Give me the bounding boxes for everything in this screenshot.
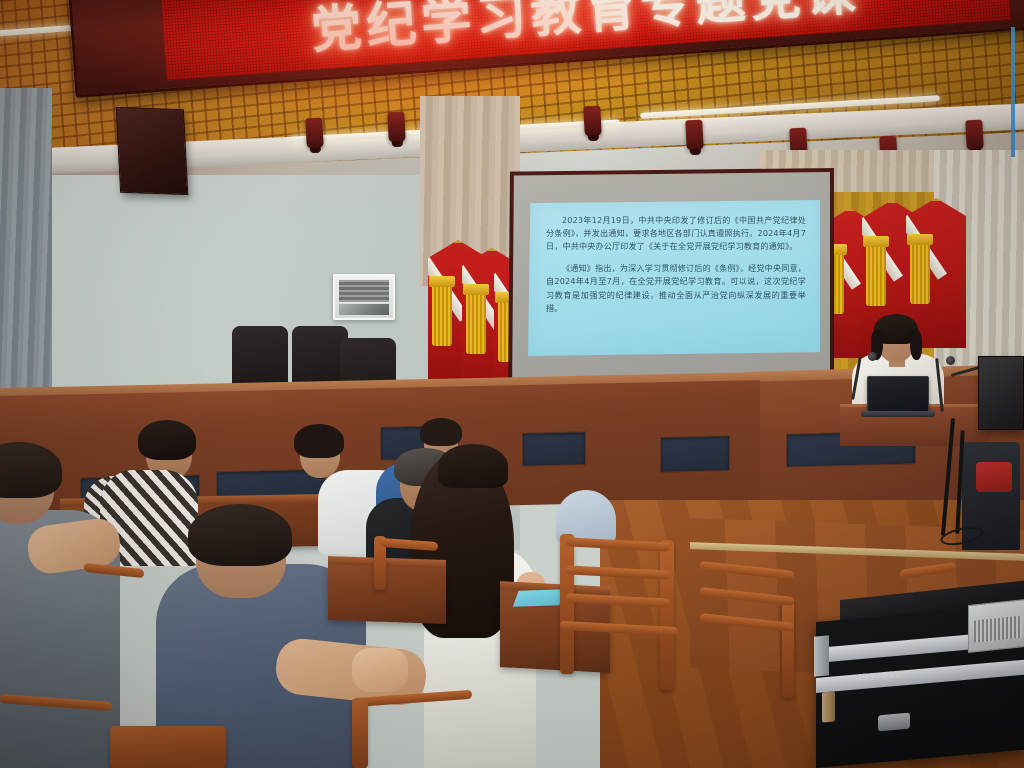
flag-tassel xyxy=(866,244,886,306)
spotlight-icon xyxy=(965,120,984,151)
audience-person-foreground-hair xyxy=(188,504,292,566)
wooden-chair-post[interactable] xyxy=(560,534,574,674)
audience-woman-hair-top xyxy=(438,444,508,488)
projection-screen-surface: 2023年12月19日，中共中央印发了修订后的《中国共产党纪律处分条例》，并发出… xyxy=(512,172,830,394)
audience-person-hand xyxy=(352,648,408,692)
spotlight-icon xyxy=(583,106,602,137)
spotlight-icon xyxy=(305,118,324,149)
slide-paragraph-1: 2023年12月19日，中共中央印发了修订后的《中国共产党纪律处分条例》，并发出… xyxy=(546,214,806,253)
conference-hall-scene: 党纪学习教育专题党课 xyxy=(0,0,1024,768)
presenter-hair-side xyxy=(910,330,922,360)
flag-tassel xyxy=(432,284,452,346)
wooden-chair-back[interactable] xyxy=(110,726,226,768)
microphone-icon[interactable] xyxy=(868,352,877,361)
flight-case-corner xyxy=(814,635,829,676)
projected-slide: 2023年12月19日，中共中央印发了修订后的《中国共产党纪律处分条例》，并发出… xyxy=(528,200,820,356)
laptop-screen[interactable] xyxy=(867,376,929,412)
audience-person-hair xyxy=(138,420,196,460)
audience-person-hair xyxy=(294,424,344,458)
audience-desk xyxy=(328,564,446,624)
wooden-chair-post[interactable] xyxy=(660,540,674,690)
flight-case-latch[interactable] xyxy=(822,691,835,722)
slide-accent-bar xyxy=(1011,27,1015,157)
wall-speaker-left xyxy=(116,107,189,195)
flag-tassel xyxy=(466,292,486,354)
spotlight-icon xyxy=(387,112,406,143)
stage-inset-panel xyxy=(522,431,586,467)
slide-paragraph-2: 《通知》指出，为深入学习贯彻修订后的《条例》，经党中央同意，自2024年4月至7… xyxy=(546,262,806,314)
spotlight-icon xyxy=(685,120,704,151)
projection-screen: 2023年12月19日，中共中央印发了修订后的《中国共产党纪律处分条例》，并发出… xyxy=(508,168,834,398)
wall-speaker-right xyxy=(978,356,1024,430)
audience-person-hair xyxy=(420,418,462,446)
flight-case-handle[interactable] xyxy=(878,713,910,732)
wooden-chair-post[interactable] xyxy=(352,700,368,768)
laptop-base[interactable] xyxy=(861,411,935,417)
wooden-chair-post[interactable] xyxy=(782,600,794,698)
stage-inset-panel xyxy=(660,435,730,473)
red-cloth-on-chair xyxy=(976,462,1012,492)
teal-handout xyxy=(513,589,566,607)
flag-tassel xyxy=(910,242,930,304)
air-conditioner-unit xyxy=(333,274,395,320)
microphone-icon[interactable] xyxy=(946,356,955,365)
stage-chair[interactable] xyxy=(232,326,288,388)
